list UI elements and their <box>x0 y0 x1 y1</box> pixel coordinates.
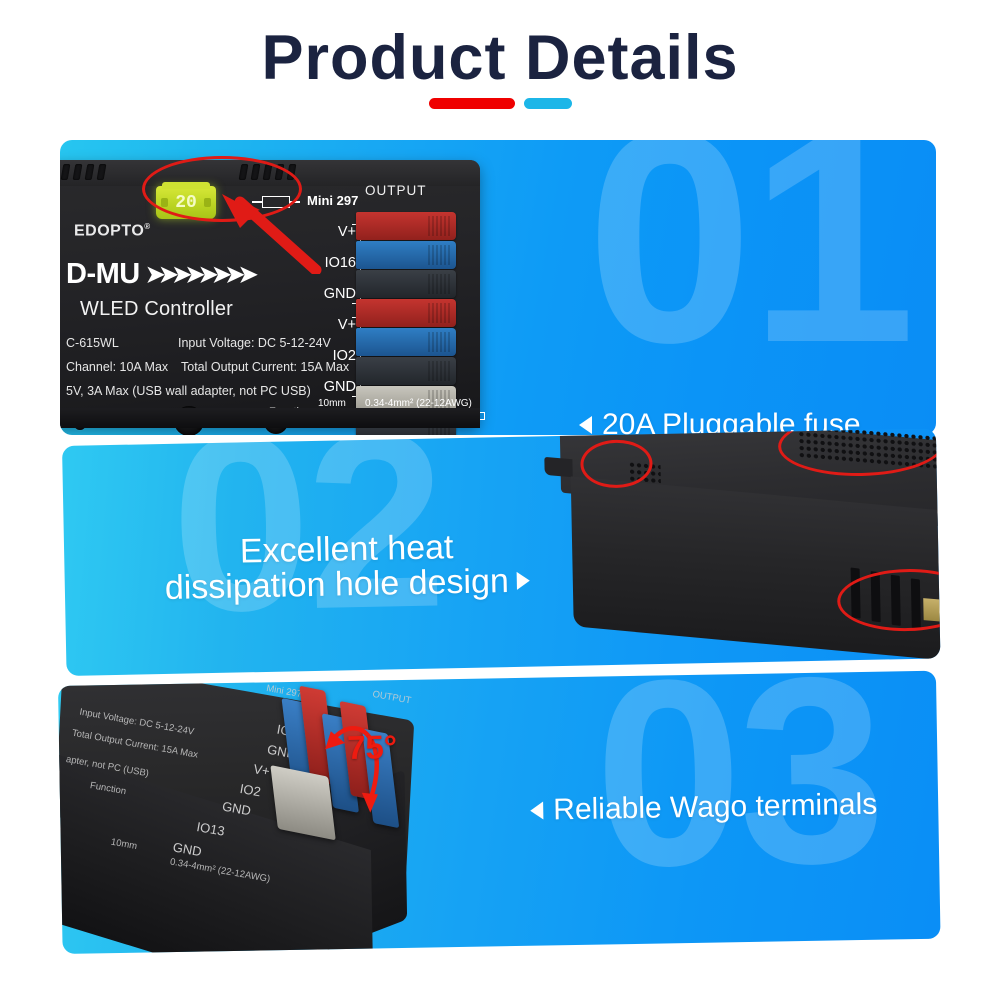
device-subtitle: WLED Controller <box>80 298 233 321</box>
registered-mark-icon: ® <box>144 222 150 231</box>
output-section-label: OUTPUT <box>365 183 427 198</box>
spec-channel-current: Channel: 10A Max <box>66 360 168 374</box>
wago-lever-blue[interactable] <box>356 241 456 269</box>
device-mounting-tab <box>544 457 572 477</box>
wago-lever-red[interactable] <box>356 212 456 240</box>
spec-model-code: C-615WL <box>66 336 119 350</box>
annotation-arrow-icon <box>200 194 330 274</box>
underline-red-bar <box>429 98 515 109</box>
vent-slots-left <box>62 164 105 180</box>
spec-usb-power: 5V, 3A Max (USB wall adapter, not PC USB… <box>66 384 311 398</box>
angle-value-label: 75° <box>347 728 398 767</box>
watermark-number-01: 01 <box>586 140 912 360</box>
feature-panel-03: 03 Reliable Wago terminals Input Voltage… <box>58 671 941 954</box>
callout-03: Reliable Wago terminals <box>530 788 878 828</box>
wago-lever-blue[interactable] <box>356 328 456 356</box>
page-header: Product Details <box>0 0 1000 130</box>
feature-panel-01: 01 20 <box>60 140 936 435</box>
pin-label-angled: V+ <box>252 761 271 779</box>
callout-02-line2-row: dissipation hole design <box>165 563 531 605</box>
product-details-page: Product Details 01 <box>0 0 1000 1000</box>
page-title: Product Details <box>0 22 1000 94</box>
callout-03-text: Reliable Wago terminals <box>553 788 878 828</box>
feature-panel-02: 02 Excellent heat dissipation hole desig… <box>62 428 940 675</box>
pin-label: GND <box>284 433 356 435</box>
underline-cyan-bar <box>524 98 572 109</box>
title-underline <box>0 98 1000 109</box>
callout-02: Excellent heat dissipation hole design <box>164 529 530 606</box>
pointer-right-icon <box>517 572 530 590</box>
wago-lever-red[interactable] <box>356 299 456 327</box>
vent-slot <box>73 164 83 180</box>
wago-lever-dark[interactable] <box>356 357 456 385</box>
device-photo-angled: Input Voltage: DC 5-12-24V Total Output … <box>58 675 473 954</box>
vent-slot <box>85 164 95 180</box>
pin-label: GND <box>284 278 356 309</box>
vent-slot <box>97 164 107 180</box>
vent-slot <box>61 164 71 180</box>
wago-lever-dark[interactable] <box>356 270 456 298</box>
brand-text: EDOPTO <box>74 222 144 239</box>
device-bottom-lip <box>60 408 480 428</box>
watermark-number-03: 03 <box>593 671 884 884</box>
pin-label: IO2 <box>284 340 356 371</box>
brand-label: EDOPTO® <box>74 222 151 240</box>
model-label: D-MU <box>66 258 140 291</box>
pointer-left-icon <box>579 416 592 434</box>
pin-label: V+ <box>284 309 356 340</box>
callout-02-line2: dissipation hole design <box>165 564 510 606</box>
pointer-left-icon <box>530 802 543 820</box>
